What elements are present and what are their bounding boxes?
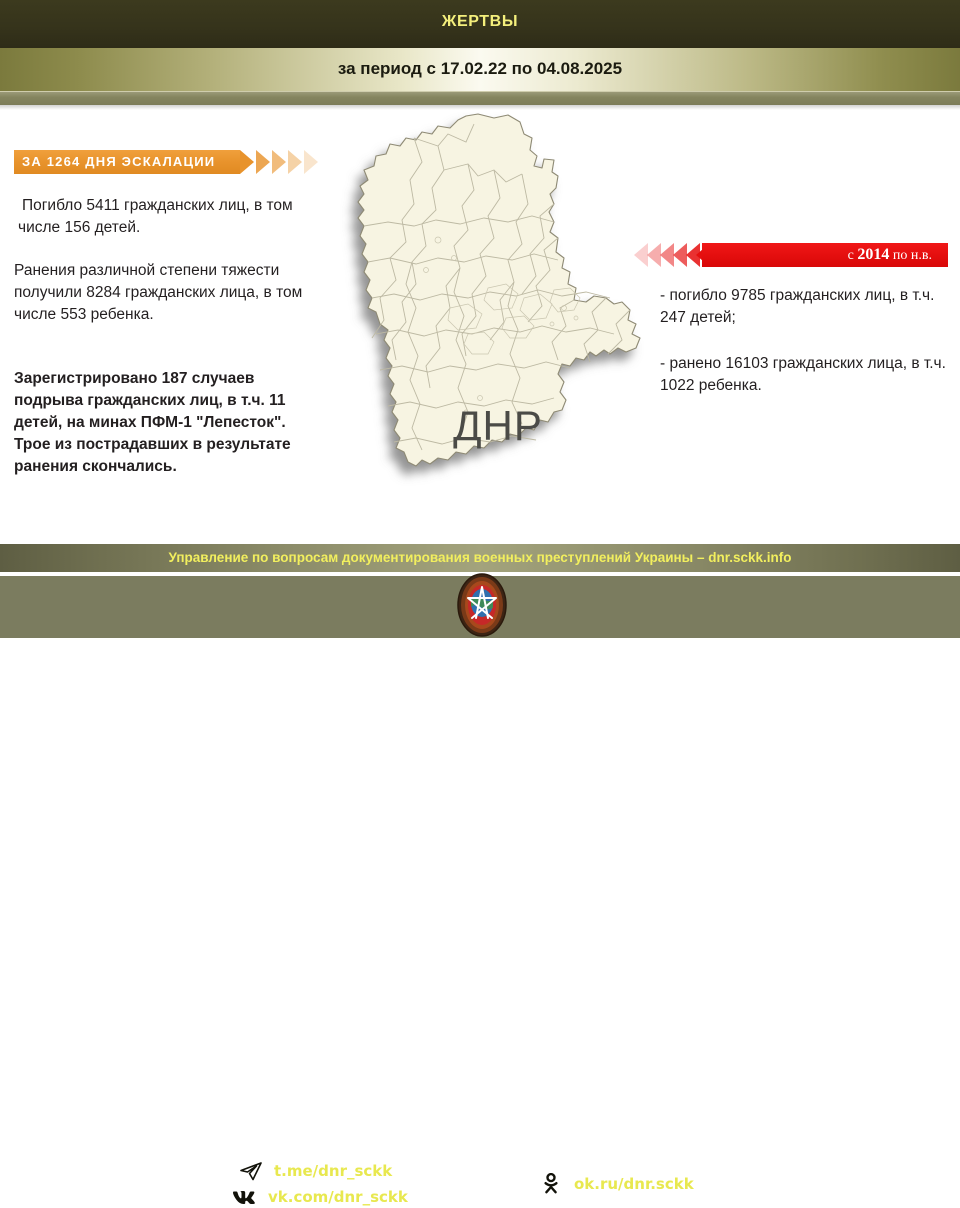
header-subtitle-band: за период с 17.02.22 по 04.08.2025 [0,48,960,91]
since-2014-suffix: по н.в. [889,248,932,263]
escalation-period-banner: ЗА 1264 ДНЯ ЭСКАЛАЦИИ [0,150,332,174]
since-2014-year: 2014 [857,246,889,263]
map-svg [318,112,678,542]
escalation-banner-label: ЗА 1264 ДНЯ ЭСКАЛАЦИИ [22,154,215,169]
social-link-ok[interactable]: ok.ru/dnr.sckk [538,1173,694,1195]
social-link-telegram[interactable]: t.me/dnr_sckk [238,1160,392,1182]
right-stats-panel: с 2014 по н.в. - погибло 9785 граждански… [630,243,960,267]
header-title-bar: ЖЕРТВЫ [0,0,960,48]
page-title: ЖЕРТВЫ [0,13,960,31]
social-label-telegram: t.me/dnr_sckk [274,1162,392,1180]
left-stats-panel: ЗА 1264 ДНЯ ЭСКАЛАЦИИ Погибло 5411 гражд… [0,150,332,174]
social-label-ok: ok.ru/dnr.sckk [574,1175,694,1193]
map-region-dnr: ДНР [318,112,678,542]
chevron-right-icon [304,150,322,174]
since-2014-prefix: с [848,248,858,263]
social-label-vk: vk.com/dnr_sckk [268,1188,408,1206]
map-silhouette [358,114,640,466]
header-strip-shadow [0,105,960,110]
telegram-icon [238,1160,264,1182]
footer-social-bar: t.me/dnr_sckk vk.com/dnr_sckk ok.ru/dnr.… [0,576,960,638]
left-paragraph-killed: Погибло 5411 гражданских лиц, в том числ… [18,195,318,239]
social-link-vk[interactable]: vk.com/dnr_sckk [232,1186,408,1208]
since-2014-banner: с 2014 по н.в. [630,243,960,267]
since-2014-banner-label: с 2014 по н.в. [848,246,932,264]
right-paragraph-wounded: - ранено 16103 гражданских лица, в т.ч. … [660,353,960,397]
footer-organization-text: Управление по вопросам документирования … [0,550,960,565]
left-paragraph-mines: Зарегистрировано 187 случаев подрыва гра… [14,368,322,478]
vk-icon [232,1186,258,1208]
left-paragraph-wounded: Ранения различной степени тяжести получи… [14,260,324,326]
odnoklassniki-icon [538,1173,564,1195]
header-accent-strip [0,91,960,105]
footer-title-bar: Управление по вопросам документирования … [0,544,960,572]
page-subtitle: за период с 17.02.22 по 04.08.2025 [0,59,960,79]
right-paragraph-killed: - погибло 9785 гражданских лиц, в т.ч. 2… [660,285,960,329]
organization-emblem-icon [452,572,512,638]
